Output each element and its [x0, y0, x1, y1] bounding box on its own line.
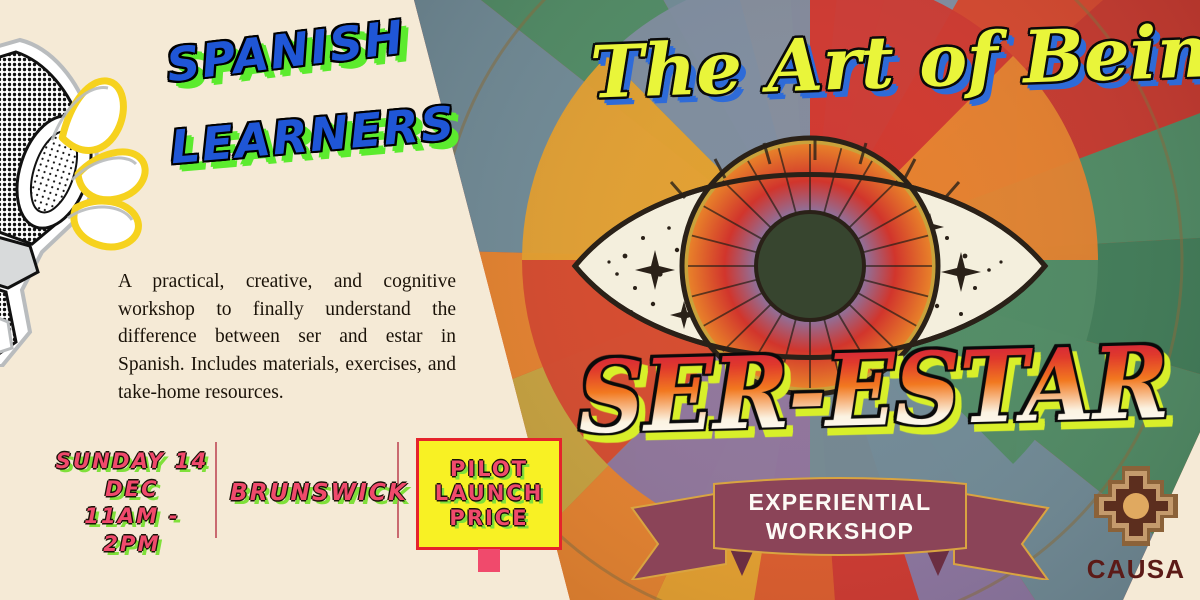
art-subtitle: SER-ESTAR — [577, 324, 1170, 456]
event-date-line-1: SUNDAY 14 — [52, 448, 212, 476]
ribbon-text: EXPERIENTIAL WORKSHOP — [630, 488, 1050, 547]
causa-logo: CAUSA — [1082, 462, 1190, 590]
price-sign: PILOT LAUNCH PRICE — [416, 438, 562, 550]
ribbon-line-1: EXPERIENTIAL — [748, 489, 931, 515]
poster-canvas: The Art of Being SER-ESTAR EXPERIENTIAL … — [0, 0, 1200, 600]
logo-label: CAUSA — [1082, 554, 1190, 585]
description-text: A practical, creative, and cognitive wor… — [118, 268, 456, 406]
event-location: BRUNSWICK — [230, 480, 408, 506]
info-panel: SPANISH LEARNERS A practical, creative, … — [0, 0, 600, 600]
event-datetime: SUNDAY 14 DEC 11AM - 2PM — [52, 448, 212, 559]
price-sign-text: PILOT LAUNCH PRICE — [419, 441, 559, 547]
price-sign-post — [478, 549, 500, 572]
ribbon-line-2: WORKSHOP — [766, 518, 914, 544]
event-details: SUNDAY 14 DEC 11AM - 2PM BRUNSWICK — [52, 448, 392, 540]
ribbon-banner: EXPERIENTIAL WORKSHOP — [630, 468, 1050, 580]
headline-line-1: SPANISH — [164, 10, 408, 93]
details-divider-1 — [215, 442, 217, 538]
price-line-3: PRICE — [449, 507, 528, 531]
event-date-line-2: DEC — [52, 476, 212, 504]
chakana-icon — [1082, 462, 1190, 550]
headline-line-2: LEARNERS — [168, 96, 458, 175]
event-time: 11AM - 2PM — [52, 503, 212, 558]
price-line-2: LAUNCH — [435, 482, 544, 506]
price-line-1: PILOT — [450, 458, 528, 482]
